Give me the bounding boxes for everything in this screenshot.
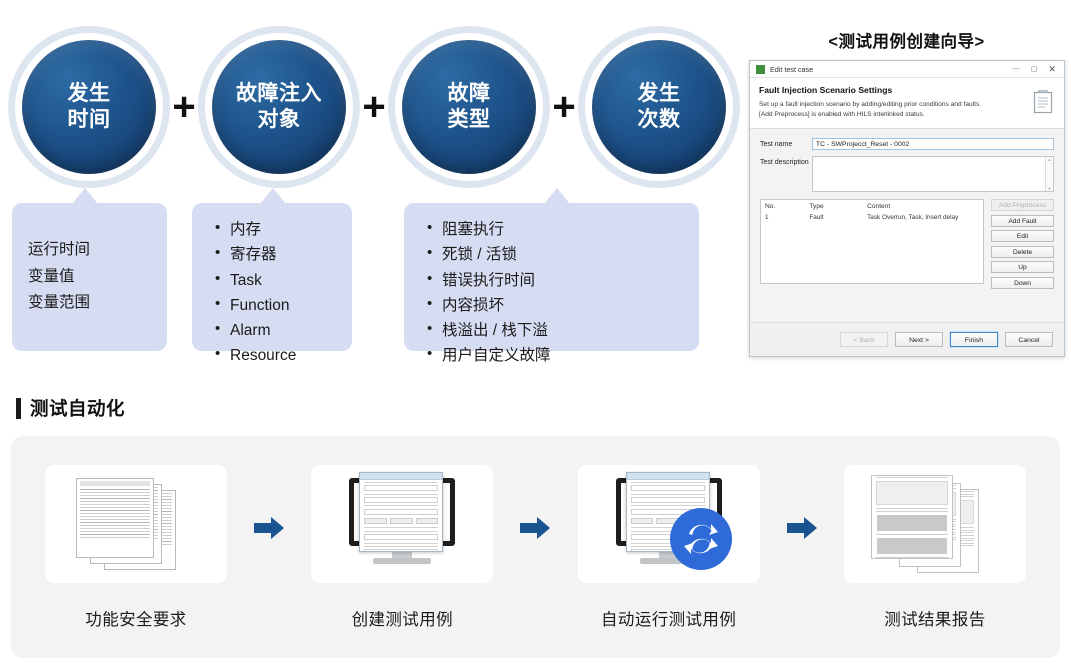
fault-action-buttons: Add Preprocess Add Fault Edit Delete Up … bbox=[991, 199, 1054, 289]
test-description-input[interactable] bbox=[812, 156, 1054, 192]
callout-fault-injection-target: 内存 寄存器 Task Function Alarm Resource bbox=[192, 203, 352, 351]
callout-tail-icon bbox=[72, 188, 98, 204]
maximize-icon[interactable]: ▢ bbox=[1031, 66, 1038, 73]
monitor-base bbox=[373, 558, 431, 564]
list-item: 阻塞执行 bbox=[442, 217, 683, 242]
cell-content: Task Overrun, Task, Insert delay bbox=[863, 213, 983, 222]
callout-line: 运行时间 bbox=[28, 237, 90, 264]
arrow-right-icon bbox=[520, 516, 550, 540]
list-item: Alarm bbox=[230, 318, 336, 343]
dialog-header: Fault Injection Scenario Settings Set up… bbox=[750, 78, 1064, 129]
slide-root: 发生 时间 + 故障注入 对象 + bbox=[0, 0, 1071, 672]
description-line-1: Set up a fault injection scenario by add… bbox=[759, 100, 984, 110]
document-stack-icon bbox=[76, 478, 196, 570]
flow-arrow-2 bbox=[515, 516, 555, 540]
section-heading: 测试自动化 bbox=[16, 395, 125, 421]
callout-occurrence-time: 运行时间 变量值 变量范围 bbox=[12, 203, 167, 351]
arrow-right-icon bbox=[254, 516, 284, 540]
minimize-icon[interactable]: — bbox=[1012, 65, 1020, 73]
list-item: 栈溢出 / 栈下溢 bbox=[442, 318, 683, 343]
cell-no: 1 bbox=[761, 213, 805, 222]
test-name-label: Test name bbox=[760, 138, 812, 148]
arrow-right-icon bbox=[787, 516, 817, 540]
description-line-2: [Add Preprocess] is enabled with HILS in… bbox=[759, 110, 984, 120]
circle-ring: 发生 次数 bbox=[585, 33, 733, 181]
report-page-front bbox=[871, 475, 953, 559]
section-accent-bar bbox=[16, 398, 21, 419]
cell-type: Fault bbox=[805, 213, 863, 222]
close-icon[interactable]: ✕ bbox=[1048, 65, 1056, 74]
fault-table[interactable]: No. Type Content 1 Fault Task Overrun, T… bbox=[760, 199, 984, 284]
circle-line-1: 故障 bbox=[448, 81, 491, 107]
sync-badge bbox=[670, 508, 732, 570]
test-automation-flow-panel: 功能安全要求 bbox=[11, 436, 1060, 658]
cancel-button[interactable]: Cancel bbox=[1005, 332, 1053, 347]
flow-steps: 功能安全要求 bbox=[11, 436, 1060, 658]
callout-text: 运行时间 变量值 变量范围 bbox=[28, 237, 90, 317]
test-description-label: Test description bbox=[760, 156, 812, 166]
dialog-heading: Fault Injection Scenario Settings bbox=[759, 85, 1055, 95]
fault-table-grid: No. Type Content 1 Fault Task Overrun, T… bbox=[761, 200, 983, 222]
list-item: Resource bbox=[230, 343, 336, 368]
flow-card[interactable] bbox=[578, 465, 760, 583]
edit-button[interactable]: Edit bbox=[991, 230, 1054, 242]
flow-step-label: 创建测试用例 bbox=[352, 606, 453, 630]
dialog-title: Edit test case bbox=[770, 65, 1012, 74]
column-header-no: No. bbox=[761, 200, 805, 213]
list-item: 内存 bbox=[230, 217, 336, 242]
flow-step-requirements: 功能安全要求 bbox=[45, 465, 227, 630]
monitor-sync-icon bbox=[602, 476, 736, 572]
circle-line-1: 故障注入 bbox=[236, 81, 322, 107]
list-item: Task bbox=[230, 268, 336, 293]
circle-body: 故障 类型 bbox=[402, 40, 536, 174]
clipboard-icon bbox=[1033, 89, 1053, 114]
callout-list: 内存 寄存器 Task Function Alarm Resource bbox=[208, 217, 336, 369]
table-header-row: No. Type Content bbox=[761, 200, 983, 213]
column-header-content: Content bbox=[863, 200, 983, 213]
table-row[interactable]: 1 Fault Task Overrun, Task, Insert delay bbox=[761, 213, 983, 222]
circle-line-1: 发生 bbox=[638, 81, 681, 107]
delete-button[interactable]: Delete bbox=[991, 246, 1054, 258]
circle-line-2: 对象 bbox=[236, 107, 322, 133]
list-item: 寄存器 bbox=[230, 242, 336, 267]
plus-sign-1: + bbox=[167, 87, 201, 127]
callout-line: 变量值 bbox=[28, 264, 90, 291]
finish-button[interactable]: Finish bbox=[950, 332, 998, 347]
test-name-row: Test name TC - SWProjecct_Reset - 0002 bbox=[760, 138, 1054, 150]
up-button[interactable]: Up bbox=[991, 261, 1054, 273]
column-header-type: Type bbox=[805, 200, 863, 213]
next-button[interactable]: Next > bbox=[895, 332, 943, 347]
circle-occurrence-count: 发生 次数 bbox=[584, 32, 734, 182]
circle-body: 故障注入 对象 bbox=[212, 40, 346, 174]
list-item: 死锁 / 活锁 bbox=[442, 242, 683, 267]
dialog-footer: < Back Next > Finish Cancel bbox=[750, 322, 1064, 356]
callout-list: 阻塞执行 死锁 / 活锁 错误执行时间 内容损坏 栈溢出 / 栈下溢 用户自定义… bbox=[420, 217, 683, 369]
back-button[interactable]: < Back bbox=[840, 332, 888, 347]
circle-line-1: 发生 bbox=[68, 81, 111, 107]
section-title: 测试自动化 bbox=[30, 395, 125, 421]
report-stack-icon bbox=[871, 475, 999, 573]
flow-step-create-test-case: 创建测试用例 bbox=[311, 465, 493, 630]
circle-ring: 故障 类型 bbox=[395, 33, 543, 181]
circle-line-2: 时间 bbox=[68, 107, 111, 133]
fault-factor-circles: 发生 时间 + 故障注入 对象 + bbox=[14, 32, 734, 182]
circle-occurrence-time: 发生 时间 bbox=[14, 32, 164, 182]
callout-fault-type: 阻塞执行 死锁 / 活锁 错误执行时间 内容损坏 栈溢出 / 栈下溢 用户自定义… bbox=[404, 203, 699, 351]
plus-sign-2: + bbox=[357, 87, 391, 127]
callout-tail-icon bbox=[260, 188, 286, 204]
doc-page-front bbox=[76, 478, 154, 558]
circle-body: 发生 时间 bbox=[22, 40, 156, 174]
edit-test-case-dialog: Edit test case — ▢ ✕ Fault Injection Sce… bbox=[749, 60, 1065, 357]
app-icon bbox=[756, 65, 765, 74]
test-name-input[interactable]: TC - SWProjecct_Reset - 0002 bbox=[812, 138, 1054, 150]
dialog-thumbnail bbox=[359, 472, 443, 552]
fault-table-area: No. Type Content 1 Fault Task Overrun, T… bbox=[760, 199, 1054, 289]
window-controls: — ▢ ✕ bbox=[1012, 65, 1061, 74]
dialog-description: Set up a fault injection scenario by add… bbox=[759, 100, 984, 120]
circle-fault-injection-target: 故障注入 对象 bbox=[204, 32, 354, 182]
flow-step-report: 测试结果报告 bbox=[844, 465, 1026, 630]
flow-step-label: 功能安全要求 bbox=[85, 606, 186, 630]
refresh-cycle-icon bbox=[680, 518, 722, 560]
scrollbar[interactable] bbox=[1045, 157, 1053, 191]
flow-card[interactable] bbox=[311, 465, 493, 583]
circle-line-2: 次数 bbox=[638, 107, 681, 133]
flow-arrow-3 bbox=[782, 516, 822, 540]
plus-sign-3: + bbox=[547, 87, 581, 127]
flow-step-label: 自动运行测试用例 bbox=[601, 606, 736, 630]
callout-line: 变量范围 bbox=[28, 290, 90, 317]
callout-tail-icon bbox=[544, 188, 570, 204]
flow-step-auto-run: 自动运行测试用例 bbox=[578, 465, 760, 630]
dialog-annotation-label: <测试用例创建向导> bbox=[744, 28, 1069, 52]
monitor-dialog-icon bbox=[335, 476, 469, 572]
circle-ring: 故障注入 对象 bbox=[205, 33, 353, 181]
flow-step-label: 测试结果报告 bbox=[884, 606, 985, 630]
dialog-titlebar[interactable]: Edit test case — ▢ ✕ bbox=[750, 61, 1064, 78]
circle-body: 发生 次数 bbox=[592, 40, 726, 174]
dialog-body: Test name TC - SWProjecct_Reset - 0002 T… bbox=[750, 129, 1064, 289]
down-button[interactable]: Down bbox=[991, 277, 1054, 289]
list-item: 错误执行时间 bbox=[442, 268, 683, 293]
circle-fault-type: 故障 类型 bbox=[394, 32, 544, 182]
add-preprocess-button[interactable]: Add Preprocess bbox=[991, 199, 1054, 211]
flow-arrow-1 bbox=[249, 516, 289, 540]
test-description-row: Test description bbox=[760, 156, 1054, 192]
flow-card[interactable] bbox=[844, 465, 1026, 583]
add-fault-button[interactable]: Add Fault bbox=[991, 215, 1054, 227]
list-item: 用户自定义故障 bbox=[442, 343, 683, 368]
circle-line-2: 类型 bbox=[448, 107, 491, 133]
list-item: 内容损坏 bbox=[442, 293, 683, 318]
list-item: Function bbox=[230, 293, 336, 318]
flow-card[interactable] bbox=[45, 465, 227, 583]
circle-ring: 发生 时间 bbox=[15, 33, 163, 181]
